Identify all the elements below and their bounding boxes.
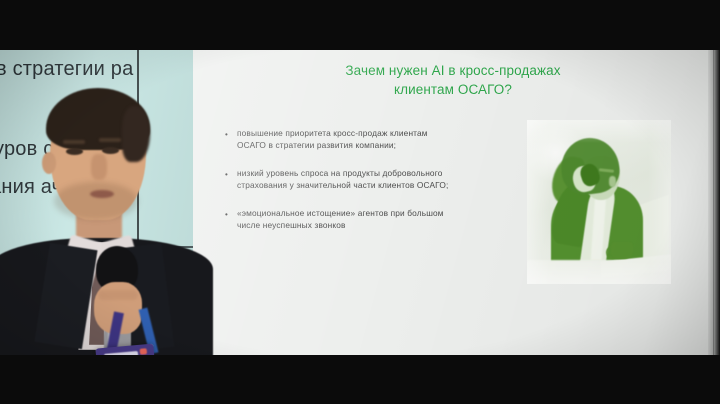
- woman-on-phone-at-laptop-photo: [527, 120, 671, 284]
- bullet-text-line-2: ОСАГО в стратегии развития компании;: [237, 139, 520, 151]
- speaker-figure: [0, 50, 198, 355]
- video-content: в стратегии ра уров спрос ания ачите Зач…: [0, 50, 720, 355]
- bullet-text: низкий уровень спроса на продукты добров…: [237, 167, 520, 192]
- bullet-text: повышение приоритета кросс-продаж клиент…: [237, 127, 520, 152]
- speaker-face-shadow: [54, 182, 138, 220]
- slide-title-line-1: Зачем нужен AI в кросс-продажах: [345, 63, 560, 78]
- slide-bullet-list: • повышение приоритета кросс-продаж клие…: [225, 127, 520, 246]
- bullet-text: «эмоциональное истощение» агентов при бо…: [237, 207, 520, 232]
- bullet-marker-icon: •: [225, 207, 237, 232]
- bullet-marker-icon: •: [225, 167, 237, 192]
- video-frame: в стратегии ра уров спрос ания ачите Зач…: [0, 0, 720, 404]
- speaker-mouth: [90, 190, 114, 198]
- speaker-nose: [91, 154, 107, 180]
- speaker-hair-right: [122, 106, 150, 162]
- speaker-ear: [42, 152, 56, 174]
- speaker-eyebrow-right: [99, 138, 121, 142]
- photo-vignette: [527, 120, 671, 284]
- presentation-slide: Зачем нужен AI в кросс-продажах клиентам…: [193, 50, 714, 355]
- bullet-item: • низкий уровень спроса на продукты добр…: [225, 167, 520, 192]
- speaker-knuckles: [98, 290, 138, 300]
- speaker-eyebrow-left: [63, 140, 85, 144]
- bullet-text-line-1: «эмоциональное истощение» агентов при бо…: [237, 208, 444, 218]
- bullet-text-line-2: страхования у значительной части клиенто…: [237, 179, 520, 191]
- speaker-eye-left: [66, 148, 83, 155]
- bullet-item: • повышение приоритета кросс-продаж клие…: [225, 127, 520, 152]
- bullet-marker-icon: •: [225, 127, 237, 152]
- slide-title: Зачем нужен AI в кросс-продажах клиентам…: [273, 61, 633, 99]
- speaker-eye-right: [102, 147, 119, 154]
- letterbox-bar-bottom: [0, 355, 720, 404]
- bullet-text-line-1: низкий уровень спроса на продукты добров…: [237, 168, 442, 178]
- badge-logo-accent: [140, 348, 147, 355]
- slide-title-line-2: клиентам ОСАГО?: [394, 82, 512, 97]
- bullet-text-line-2: числе неуспешных звонков: [237, 219, 520, 231]
- letterbox-bar-top: [0, 0, 720, 50]
- frame-right-edge: [713, 50, 720, 355]
- bullet-item: • «эмоциональное истощение» агентов при …: [225, 207, 520, 232]
- bullet-text-line-1: повышение приоритета кросс-продаж клиент…: [237, 128, 428, 138]
